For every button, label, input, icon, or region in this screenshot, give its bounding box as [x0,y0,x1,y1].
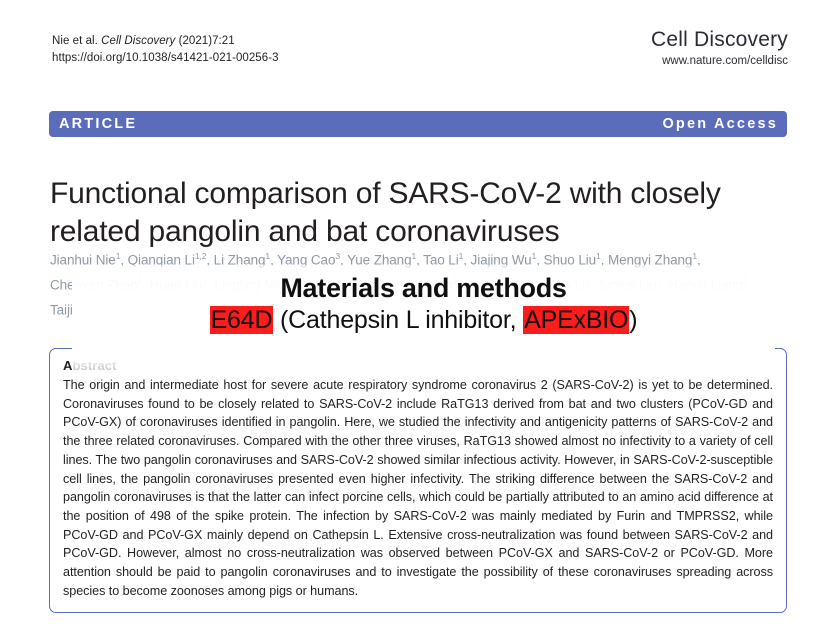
callout-plain-1: (Cathepsin L inhibitor, [273,306,523,334]
article-banner: ARTICLE Open Access [49,111,787,137]
abstract-box: Abstract The origin and intermediate hos… [49,348,787,613]
running-head-journal: Cell Discovery [101,35,175,47]
callout-overlay: Materials and methods E64D (Cathepsin L … [72,272,775,336]
running-head-citation: Nie et al. [52,35,101,47]
masthead: Cell Discovery www.nature.com/celldisc [651,28,788,69]
doi-link[interactable]: https://doi.org/10.1038/s41421-021-00256… [52,50,279,67]
page-title: Functional comparison of SARS-CoV-2 with… [50,175,795,251]
callout-plain-2: ) [629,306,637,334]
highlight-e64d: E64D [210,306,274,334]
callout-subtext: E64D (Cathepsin L inhibitor, APExBIO) [72,305,775,336]
article-label: ARTICLE [59,116,137,132]
callout-heading: Materials and methods [72,272,775,304]
running-head: Nie et al. Cell Discovery (2021)7:21 htt… [52,33,279,67]
abstract-text: The origin and intermediate host for sev… [63,376,773,600]
author-line-1: Jianhui Nie1, Qianqian Li1,2, Li Zhang1,… [50,246,790,271]
open-access-label: Open Access [662,116,778,132]
journal-title: Cell Discovery [651,28,788,52]
journal-url[interactable]: www.nature.com/celldisc [651,54,788,69]
abstract-heading: Abstract [63,358,773,373]
article-page: Nie et al. Cell Discovery (2021)7:21 htt… [0,0,838,629]
running-head-volume: (2021)7:21 [175,35,234,47]
highlight-apexbio: APExBIO [523,306,629,334]
